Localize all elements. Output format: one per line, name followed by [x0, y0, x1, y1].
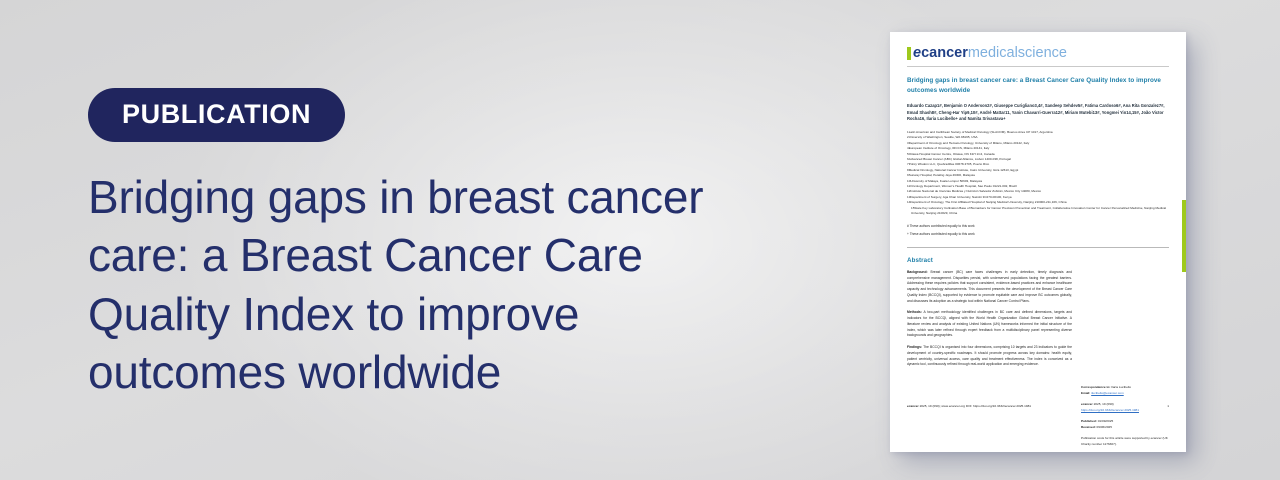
received-label: Received: [1081, 425, 1096, 429]
published-label: Published: [1081, 419, 1097, 423]
paper-footer: ecancer 2025, 19 (090); www.ecancer.org … [907, 404, 1169, 408]
logo-medicalscience: medicalscience [968, 46, 1067, 61]
abstract-column: Abstract Background: Breast cancer (BC) … [907, 257, 1072, 452]
author-list: Eduardo Cazap1#, Benjamin O Anderson2#, … [907, 103, 1169, 123]
correspondence-name: Ilaria Lucibello [1111, 385, 1131, 389]
paper-body: Abstract Background: Breast cancer (BC) … [907, 257, 1169, 452]
hero-text-panel: PUBLICATION Bridging gaps in breast canc… [88, 88, 808, 402]
published-date: 01/09/2025 [1098, 419, 1113, 423]
abstract-text-methods: A two-part methodology identified challe… [907, 310, 1072, 337]
footer-citation: ecancer 2025, 19 (090); www.ecancer.org … [907, 404, 1031, 408]
abstract-label-findings: Findings: [907, 345, 922, 349]
paper-preview[interactable]: e cancer medicalscience Bridging gaps in… [890, 32, 1186, 452]
abstract-label-methods: Methods: [907, 310, 922, 314]
received-date: 09/06/2025 [1097, 425, 1112, 429]
footer-journal-name: ecancer [907, 404, 919, 408]
correspondence-label: Correspondence to: [1081, 385, 1110, 389]
logo-e: e [913, 46, 921, 61]
metadata-spacer [1081, 257, 1169, 385]
policy-tab[interactable]: Policy [1182, 200, 1186, 272]
abstract-paragraph-background: Background: Breast cancer (BC) care face… [907, 270, 1072, 305]
logo-cancer: cancer [921, 46, 968, 61]
page-number: 1 [1167, 404, 1169, 408]
paper-page: e cancer medicalscience Bridging gaps in… [890, 32, 1186, 452]
email-label: Email: [1081, 391, 1090, 395]
correspondence-block: Correspondence to: Ilaria Lucibello Emai… [1081, 385, 1169, 396]
abstract-text-background: Breast cancer (BC) care faces challenges… [907, 270, 1072, 303]
funding-note: Publication costs for this article were … [1081, 436, 1169, 447]
page-title: Bridging gaps in breast cancer care: a B… [88, 168, 788, 402]
section-divider [907, 247, 1169, 248]
abstract-paragraph-findings: Findings: The BCCQI is organised into fo… [907, 345, 1072, 368]
paper-title: Bridging gaps in breast cancer care: a B… [907, 76, 1169, 95]
logo-green-bar [907, 47, 911, 60]
affiliation: 15State Key Laboratory Cultivation Base … [907, 206, 1169, 217]
publication-badge: PUBLICATION [88, 88, 345, 142]
doi-link[interactable]: https://doi.org/10.3332/ecancer.2025.198… [1081, 408, 1139, 412]
abstract-label-background: Background: [907, 270, 928, 274]
affiliation-list: 1Latin American and Caribbean Society of… [907, 130, 1169, 217]
correspondence-email-link[interactable]: ilucibello@ecancer.com [1091, 391, 1124, 395]
abstract-text-findings: The BCCQI is organised into four dimensi… [907, 345, 1072, 366]
contribution-note: # These authors contributed equally to t… [907, 223, 1169, 229]
footer-citation-text: 2025, 19 (090); www.ecancer.org DOI: htt… [920, 404, 1031, 408]
dates-block: Published: 01/09/2025 Received: 09/06/20… [1081, 419, 1169, 430]
contribution-note: + These authors contributed equally to t… [907, 231, 1169, 237]
header-divider [907, 66, 1169, 68]
abstract-heading: Abstract [907, 257, 1072, 264]
abstract-paragraph-methods: Methods: A two-part methodology identifi… [907, 310, 1072, 339]
journal-logo: e cancer medicalscience [907, 46, 1169, 61]
metadata-column: Correspondence to: Ilaria Lucibello Emai… [1081, 257, 1169, 452]
